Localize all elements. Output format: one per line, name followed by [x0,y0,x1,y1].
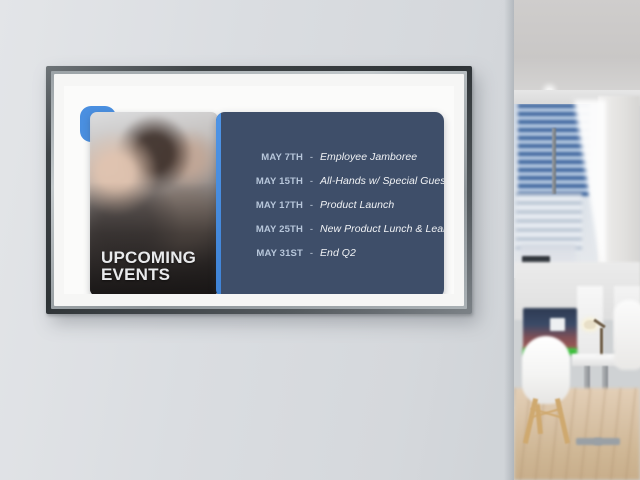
event-row: MAY 31ST-End Q2 [221,241,438,265]
event-row: MAY 15TH-All-Hands w/ Special Guest [221,169,438,193]
frame-bevel: UPCOMING EVENTS MAY 7TH-Employee Jambore… [51,71,467,309]
building-lower [516,192,582,252]
scene: UPCOMING EVENTS MAY 7TH-Employee Jambore… [0,0,640,480]
event-separator: - [303,248,320,259]
event-date: MAY 15TH [221,176,303,187]
slide-canvas: UPCOMING EVENTS MAY 7TH-Employee Jambore… [64,86,454,294]
office-background [514,0,640,480]
event-date: MAY 25TH [221,224,303,235]
slide-heading: UPCOMING EVENTS [101,249,212,283]
event-date: MAY 17TH [221,200,303,211]
event-date: MAY 7TH [221,152,303,163]
event-date: MAY 31ST [221,248,303,259]
ceiling [514,0,640,96]
event-separator: - [303,224,320,235]
event-name: Employee Jamboree [320,151,438,163]
slide-heading-line2: EVENTS [101,266,212,283]
picture-frame: UPCOMING EVENTS MAY 7TH-Employee Jambore… [46,66,472,314]
event-row: MAY 7TH-Employee Jamboree [221,145,438,169]
event-separator: - [303,176,320,187]
events-list: MAY 7TH-Employee JamboreeMAY 15TH-All-Ha… [221,112,438,294]
chair-primary [522,336,570,404]
chair-secondary [614,300,640,370]
event-name: All-Hands w/ Special Guest [320,175,444,187]
street-pole [552,128,556,194]
event-name: New Product Lunch & Learn [320,223,444,235]
event-separator: - [303,152,320,163]
event-row: MAY 17TH-Product Launch [221,193,438,217]
event-name: End Q2 [320,247,438,259]
monitor-overlay [550,318,565,331]
event-row: MAY 25TH-New Product Lunch & Learn [221,217,438,241]
photo-card: UPCOMING EVENTS [90,112,218,294]
frame-mat: UPCOMING EVENTS MAY 7TH-Employee Jambore… [54,74,464,306]
desk-foot-right [594,438,620,445]
event-separator: - [303,200,320,211]
event-name: Product Launch [320,199,438,211]
events-panel: MAY 7TH-Employee JamboreeMAY 15TH-All-Ha… [216,112,444,294]
